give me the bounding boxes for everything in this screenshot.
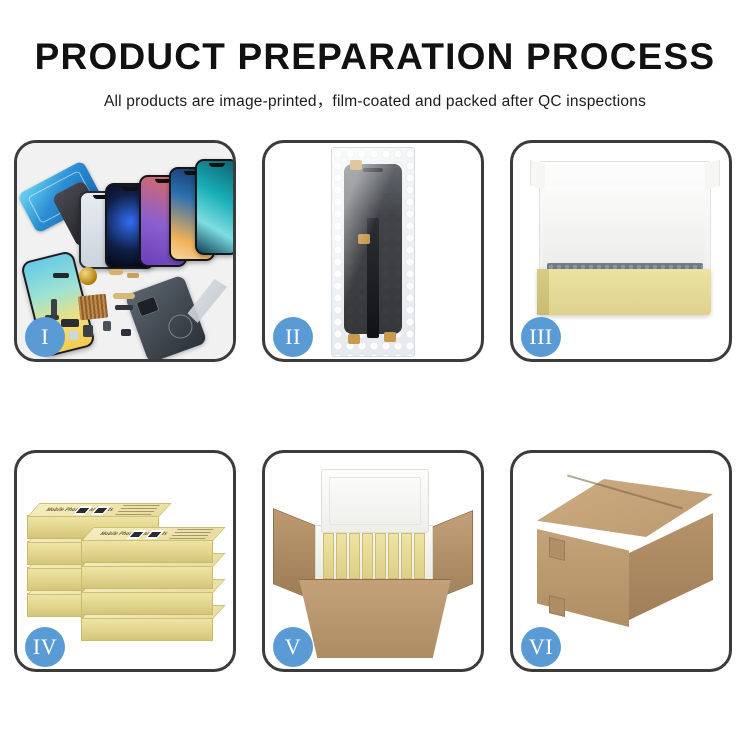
packed-box — [401, 533, 412, 579]
page-title: PRODUCT PREPARATION PROCESS — [0, 38, 750, 75]
packed-box — [349, 533, 360, 579]
spare-part — [103, 321, 111, 331]
retail-box — [81, 617, 213, 641]
spare-part — [83, 325, 93, 337]
foam-liner — [543, 187, 705, 269]
spare-part — [69, 331, 78, 340]
spare-part — [121, 329, 131, 336]
spare-part — [53, 273, 69, 278]
wireless-charging-coil — [79, 267, 97, 285]
packed-box — [414, 533, 425, 579]
step-badge-4: IV — [25, 627, 65, 667]
process-step-panel-6: VI — [510, 450, 732, 672]
carton-tape — [549, 537, 565, 561]
retail-box — [81, 591, 213, 615]
packed-box — [388, 533, 399, 579]
process-step-panel-4: Mobile Phone Spare Parts Mobile Phone Sp… — [14, 450, 236, 672]
packed-yellow-boxes — [323, 533, 425, 579]
packed-box — [323, 533, 334, 579]
packed-box — [375, 533, 386, 579]
tape-piece — [358, 234, 370, 244]
spare-part — [127, 273, 139, 278]
tape-piece — [350, 160, 362, 170]
step-badge-6: VI — [521, 627, 561, 667]
page-header: PRODUCT PREPARATION PROCESS All products… — [0, 0, 750, 111]
process-step-panel-3: III — [510, 140, 732, 362]
tape-piece — [348, 334, 360, 344]
phone-screen-fan — [77, 157, 227, 269]
notch-icon — [122, 187, 138, 191]
outer-carton — [299, 579, 451, 658]
spare-part — [115, 305, 133, 310]
bubble-wrap-bag — [331, 147, 415, 357]
spare-part — [61, 319, 79, 327]
process-steps-grid: I II — [14, 140, 736, 672]
carton-tape — [549, 595, 565, 617]
process-step-panel-2: II — [262, 140, 484, 362]
logic-board-chip — [78, 294, 108, 321]
step-badge-1: I — [25, 317, 65, 357]
foam-cooler-lid — [321, 469, 429, 533]
spare-part — [113, 293, 135, 299]
spare-part — [109, 269, 123, 275]
packed-box — [362, 533, 373, 579]
retail-box — [81, 565, 213, 589]
step-badge-2: II — [273, 317, 313, 357]
yellow-box-base — [537, 269, 711, 315]
notch-icon — [209, 163, 225, 167]
packed-box — [336, 533, 347, 579]
step-badge-5: V — [273, 627, 313, 667]
phone-screen-teal — [195, 159, 233, 255]
retail-box: Mobile Phone Spare Parts — [81, 539, 213, 563]
page-subtitle: All products are image-printed，film-coat… — [0, 89, 750, 111]
process-step-panel-5: V — [262, 450, 484, 672]
step-badge-3: III — [521, 317, 561, 357]
process-step-panel-1: I — [14, 140, 236, 362]
box-stack: Mobile Phone Spare Parts Mobile Phone Sp… — [27, 475, 227, 655]
tape-piece — [384, 332, 396, 342]
